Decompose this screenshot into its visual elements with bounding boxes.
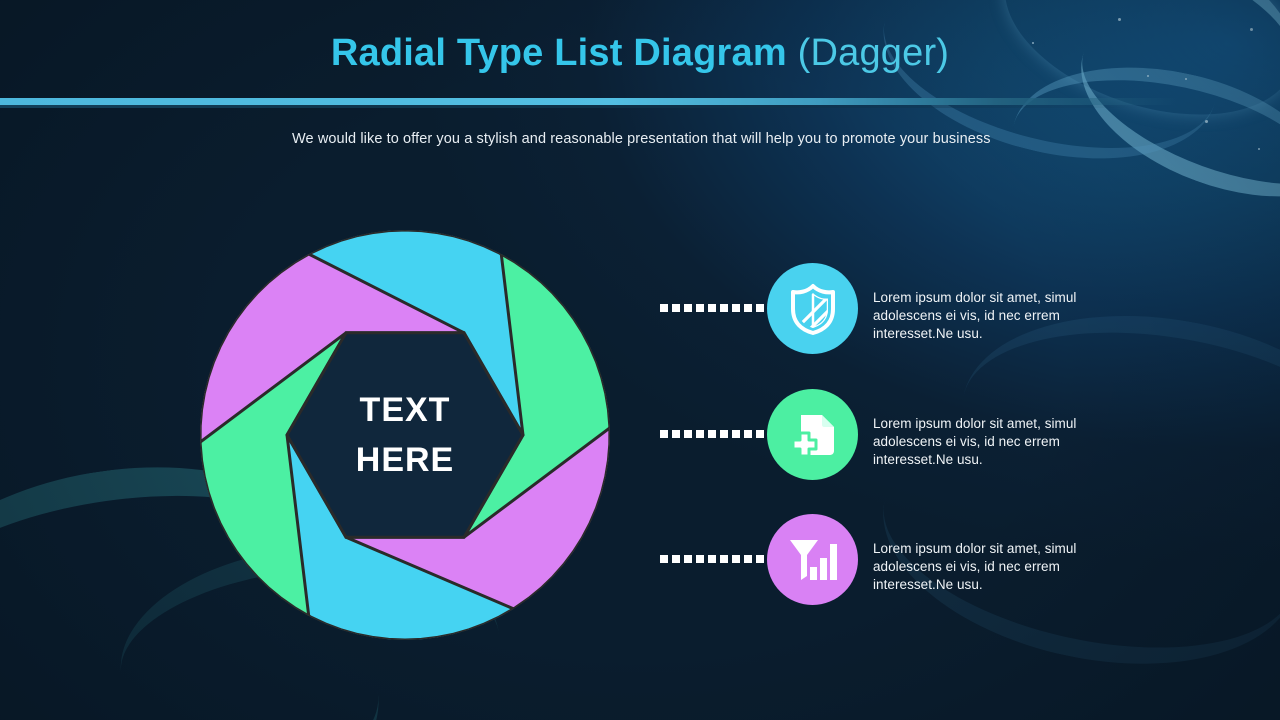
page-title: Radial Type List Diagram (Dagger) [0,28,1280,78]
icon-badge-1[interactable] [767,263,858,354]
aperture-diagram [195,225,615,645]
funnel-chart-icon [788,536,838,584]
document-plus-icon [787,409,839,461]
page-title-main: Radial Type List Diagram [331,32,798,74]
slide-canvas: Radial Type List Diagram (Dagger) We wou… [0,0,1280,720]
list-item-text: Lorem ipsum dolor sit amet, simul adoles… [873,540,1088,594]
connector-dashes [660,430,764,438]
background-vignette [0,0,1280,720]
title-accent-bar [0,98,1280,105]
icon-badge-3[interactable] [767,514,858,605]
shield-icon [788,283,838,335]
subtitle: We would like to offer you a stylish and… [292,131,991,147]
title-accent-bar-shadow [0,105,1280,108]
page-title-sub: (Dagger) [798,32,950,74]
list-item-text: Lorem ipsum dolor sit amet, simul adoles… [873,289,1088,343]
icon-badge-2[interactable] [767,389,858,480]
connector-dashes [660,304,764,312]
connector-dashes [660,555,764,563]
list-item-text: Lorem ipsum dolor sit amet, simul adoles… [873,415,1088,469]
